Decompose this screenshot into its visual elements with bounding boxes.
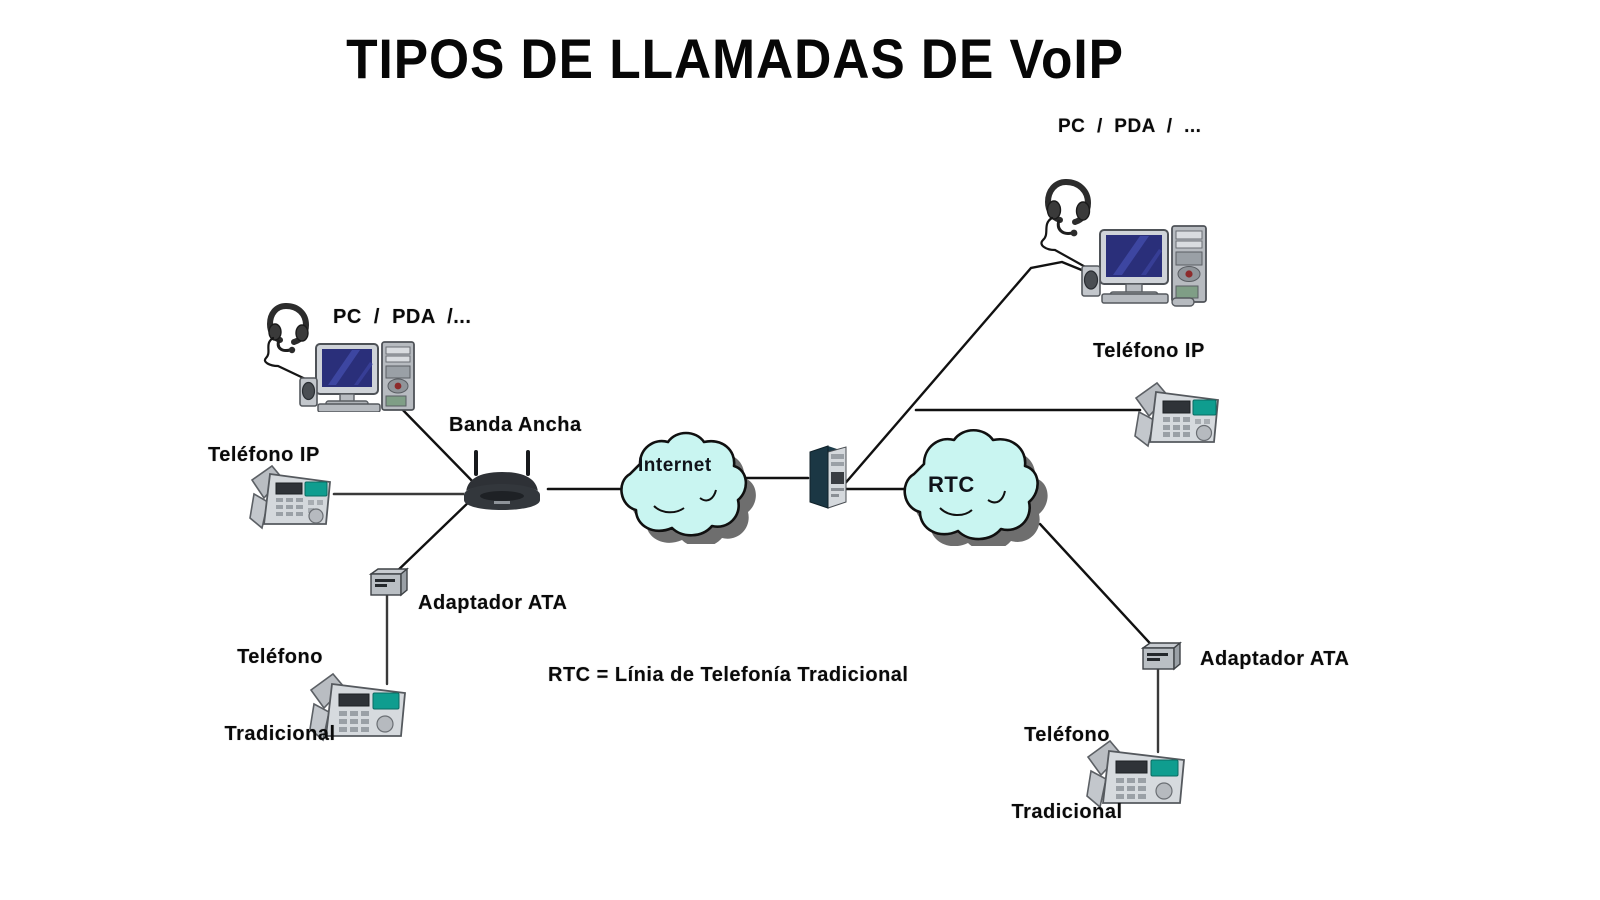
cloud-icon [621, 433, 755, 544]
pc-right-label: PC / PDA / ... [1058, 116, 1201, 138]
page-title: TIPOS DE LLAMADAS DE VoIP [59, 26, 1411, 91]
speaker-icon [1082, 266, 1100, 296]
diagram-canvas: TIPOS DE LLAMADAS DE VoIP [0, 0, 1600, 900]
link-rtc-ata-right [1040, 524, 1158, 652]
gateway-server[interactable] [806, 442, 850, 510]
traditional-phone-right-label-line1: Teléfono [992, 723, 1142, 749]
ata-left-label: Adaptador ATA [418, 592, 567, 615]
internet-cloud[interactable] [596, 424, 756, 544]
computer-tower-icon [382, 342, 414, 410]
cloud-icon [905, 430, 1048, 546]
traditional-phone-left-label-line1: Teléfono [205, 645, 355, 671]
traditional-phone-right-label-line2: Tradicional [992, 800, 1142, 826]
ata-right-label: Adaptador ATA [1200, 648, 1349, 671]
ata-right[interactable] [1140, 640, 1184, 672]
ip-phone-icon [1135, 383, 1218, 446]
broadband-router-label: Banda Ancha [449, 414, 582, 437]
keyboard-icon [1102, 294, 1168, 303]
ata-adapter-icon [371, 569, 407, 595]
ip-phone-left-label: Teléfono IP [208, 444, 320, 467]
server-tower-icon [810, 446, 846, 508]
ip-phone-right-label: Teléfono IP [1093, 340, 1205, 363]
traditional-phone-left-label: Teléfono Tradicional [205, 594, 355, 799]
monitor-icon [316, 344, 378, 407]
ip-phone-right[interactable] [1130, 368, 1226, 458]
pc-left-label: PC / PDA /... [333, 306, 471, 329]
rtc-cloud-label: RTC [928, 472, 975, 498]
speaker-icon [300, 378, 317, 406]
internet-cloud-label: Internet [638, 455, 712, 477]
broadband-router[interactable] [452, 448, 552, 514]
computer-tower-icon [1172, 226, 1206, 302]
ip-phone-icon [250, 466, 330, 528]
ata-adapter-icon [1143, 643, 1180, 669]
monitor-icon [1100, 230, 1168, 299]
headset-icon [1041, 182, 1098, 274]
traditional-phone-right-label: Teléfono Tradicional [992, 672, 1142, 877]
traditional-phone-left-label-line2: Tradicional [205, 722, 355, 748]
headset-icon [265, 306, 316, 384]
wireless-router-icon [464, 450, 540, 510]
keyboard-icon [318, 404, 380, 412]
pc-left[interactable] [258, 286, 418, 412]
ata-left[interactable] [368, 566, 410, 598]
mouse-icon [1172, 298, 1194, 306]
legend-text: RTC = Línia de Telefonía Tradicional [548, 664, 908, 687]
pc-right[interactable] [1036, 168, 1208, 308]
